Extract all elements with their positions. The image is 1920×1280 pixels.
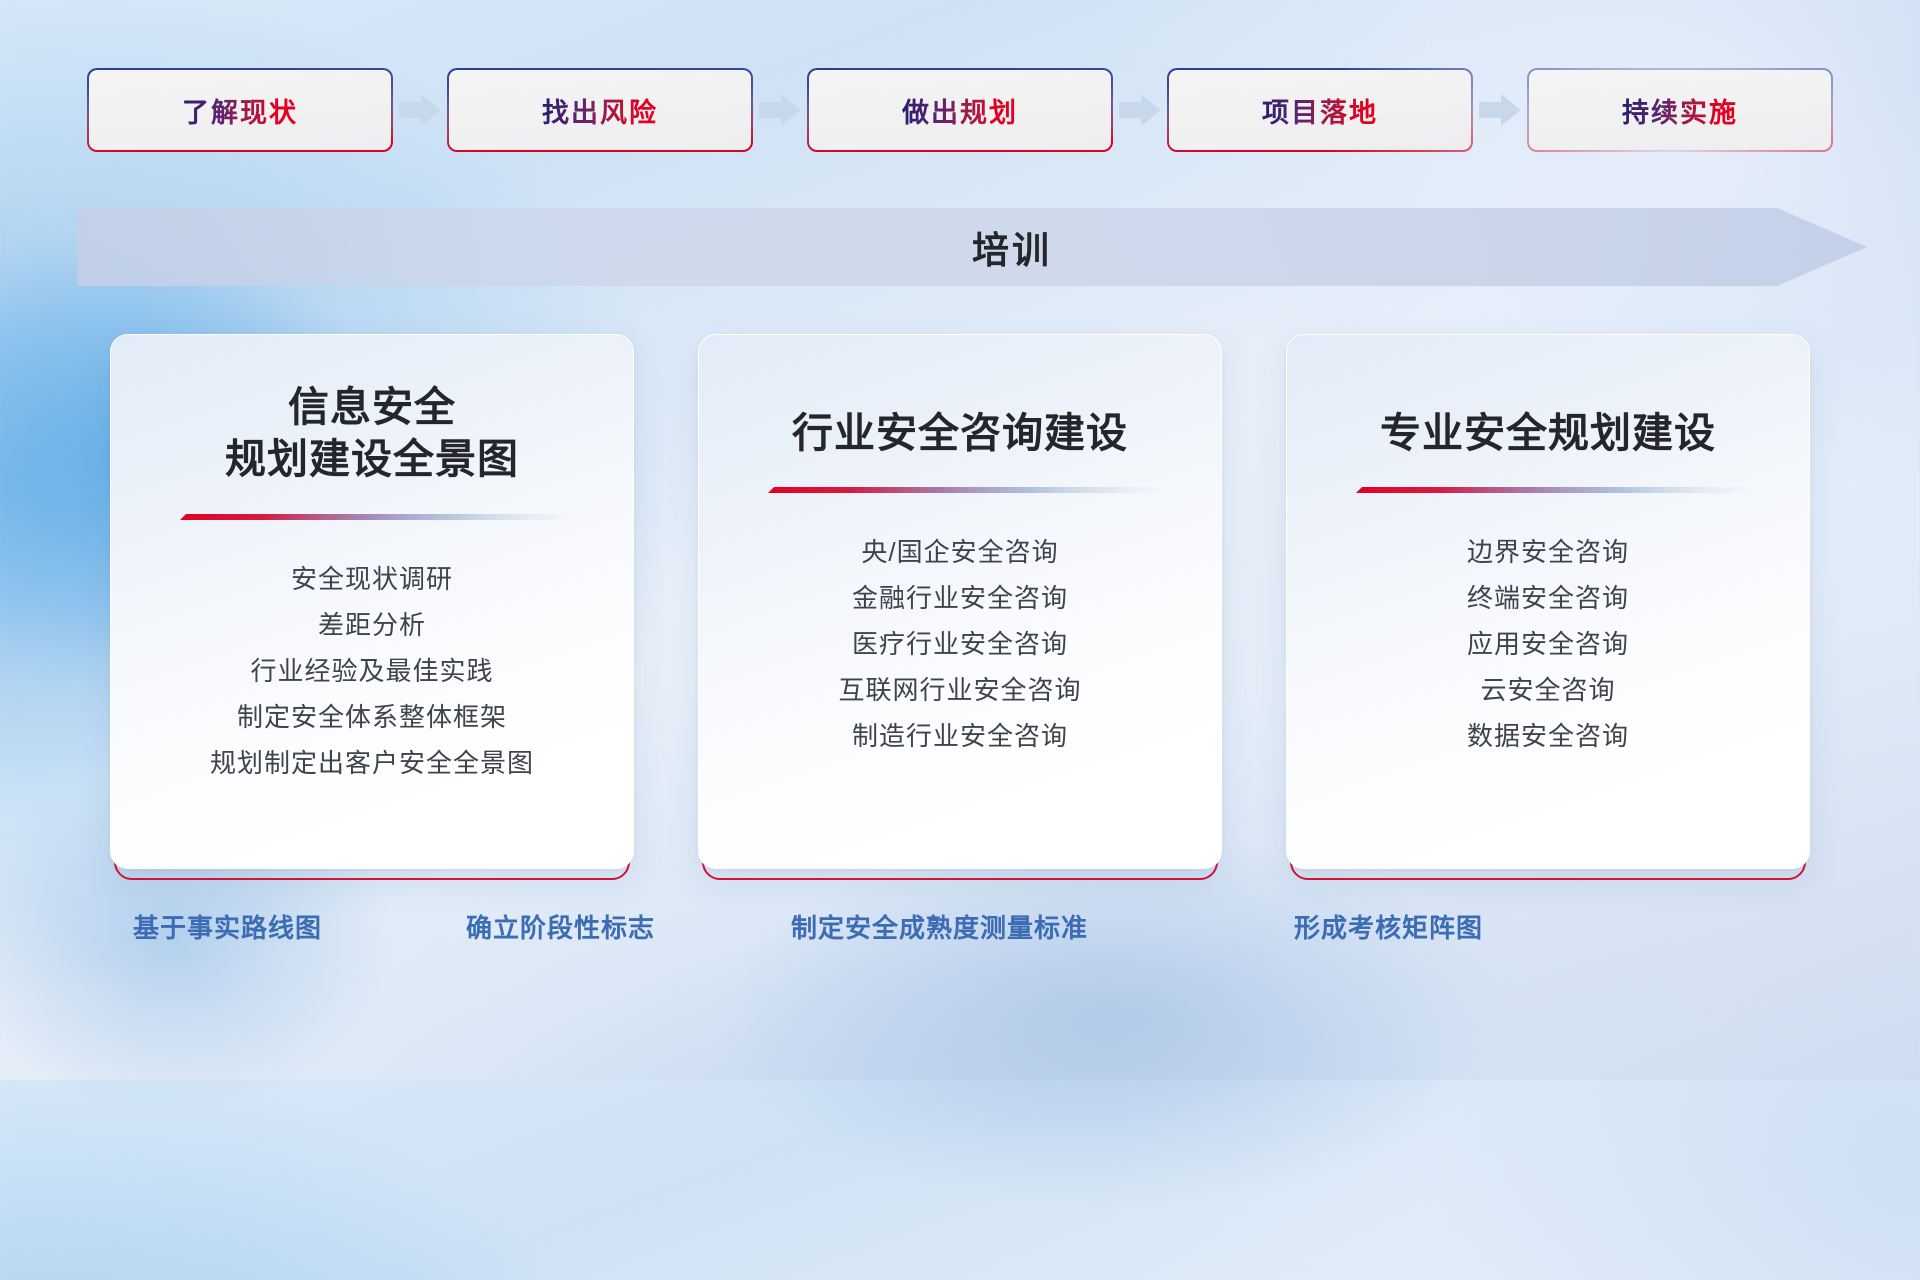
step-arrow-icon-2 — [751, 88, 809, 132]
list-item: 数据安全咨询 — [1311, 713, 1785, 759]
step-label: 找出风险 — [542, 91, 658, 130]
card-divider — [758, 485, 1162, 499]
step-label: 了解现状 — [182, 91, 298, 130]
caption-3: 制定安全成熟度测量标准 — [791, 908, 1088, 945]
step-label: 持续实施 — [1622, 91, 1738, 130]
list-item: 差距分析 — [135, 602, 609, 648]
list-item: 央/国企安全咨询 — [723, 529, 1197, 575]
caption-row: 基于事实路线图 确立阶段性标志 制定安全成熟度测量标准 形成考核矩阵图 — [0, 908, 1920, 958]
caption-2: 确立阶段性标志 — [466, 908, 655, 945]
caption-4: 形成考核矩阵图 — [1294, 908, 1483, 945]
step-arrow-icon-1 — [391, 88, 449, 132]
card-wrapper-1: 信息安全 规划建设全景图 — [110, 334, 634, 869]
step-box-3[interactable]: 做出规划 — [809, 70, 1111, 150]
list-item: 医疗行业安全咨询 — [723, 621, 1197, 667]
list-item: 制定安全体系整体框架 — [135, 694, 609, 740]
step-box-5[interactable]: 持续实施 — [1529, 70, 1831, 150]
step-label: 做出规划 — [902, 91, 1018, 130]
caption-1: 基于事实路线图 — [133, 908, 322, 945]
card-title: 信息安全 规划建设全景图 — [111, 335, 633, 486]
list-item: 应用安全咨询 — [1311, 621, 1785, 667]
list-item: 金融行业安全咨询 — [723, 575, 1197, 621]
card-divider — [170, 512, 574, 526]
list-item: 规划制定出客户安全全景图 — [135, 740, 609, 786]
card-wrapper-2: 行业安全咨询建设 — [698, 334, 1222, 869]
step-arrow-icon-3 — [1111, 88, 1169, 132]
card-title: 专业安全规划建设 — [1287, 335, 1809, 459]
feature-card-1[interactable]: 信息安全 规划建设全景图 — [110, 334, 634, 869]
list-item: 云安全咨询 — [1311, 667, 1785, 713]
list-item: 安全现状调研 — [135, 556, 609, 602]
step-box-4[interactable]: 项目落地 — [1169, 70, 1471, 150]
card-divider — [1346, 485, 1750, 499]
list-item: 行业经验及最佳实践 — [135, 648, 609, 694]
step-arrow-icon-4 — [1471, 88, 1529, 132]
list-item: 边界安全咨询 — [1311, 529, 1785, 575]
feature-card-2[interactable]: 行业安全咨询建设 — [698, 334, 1222, 869]
step-label: 项目落地 — [1262, 91, 1378, 130]
list-item: 互联网行业安全咨询 — [723, 667, 1197, 713]
card-item-list-1: 安全现状调研 差距分析 行业经验及最佳实践 制定安全体系整体框架 规划制定出客户… — [111, 526, 633, 786]
card-item-list-2: 央/国企安全咨询 金融行业安全咨询 医疗行业安全咨询 互联网行业安全咨询 制造行… — [699, 499, 1221, 759]
feature-card-3[interactable]: 专业安全规划建设 — [1286, 334, 1810, 869]
card-item-list-3: 边界安全咨询 终端安全咨询 应用安全咨询 云安全咨询 数据安全咨询 — [1287, 499, 1809, 759]
card-wrapper-3: 专业安全规划建设 — [1286, 334, 1810, 869]
banner-label: 培训 — [77, 208, 1867, 286]
process-step-row: 了解现状 找出风险 做出规划 项目落地 持续实施 — [0, 70, 1920, 150]
list-item: 制造行业安全咨询 — [723, 713, 1197, 759]
step-box-2[interactable]: 找出风险 — [449, 70, 751, 150]
step-box-1[interactable]: 了解现状 — [89, 70, 391, 150]
list-item: 终端安全咨询 — [1311, 575, 1785, 621]
training-banner-arrow: 培训 — [77, 208, 1867, 286]
card-title: 行业安全咨询建设 — [699, 335, 1221, 459]
feature-card-row: 信息安全 规划建设全景图 — [110, 334, 1810, 869]
